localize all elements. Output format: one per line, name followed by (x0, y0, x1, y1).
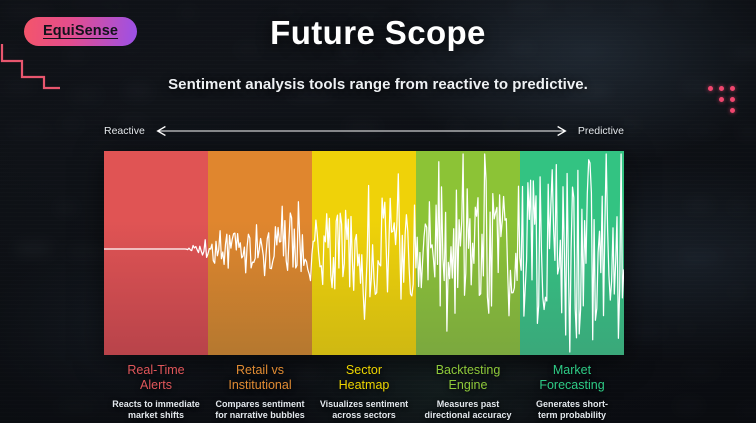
caption-description-retail-vs-institutional: Compares sentiment for narrative bubbles (211, 399, 309, 421)
caption-market-forecasting[interactable]: Market ForecastingGenerates short- term … (520, 363, 624, 421)
caption-title-market-forecasting: Market Forecasting (523, 363, 621, 393)
page-title: Future Scope (0, 14, 756, 52)
caption-title-real-time-alerts: Real-Time Alerts (107, 363, 205, 393)
caption-description-sector-heatmap: Visualizes sentiment across sectors (315, 399, 413, 421)
band-captions: Real-Time AlertsReacts to immediate mark… (104, 363, 624, 421)
page-subtitle: Sentiment analysis tools range from reac… (0, 76, 756, 93)
caption-title-sector-heatmap: Sector Heatmap (315, 363, 413, 393)
sentiment-spectrum (104, 151, 624, 355)
double-arrow-icon (154, 125, 569, 137)
axis-label-reactive: Reactive (104, 125, 145, 137)
spectrum-axis: Reactive Predictive (104, 122, 624, 140)
spectrum-band-retail-vs-institutional[interactable] (208, 151, 312, 355)
caption-backtesting-engine[interactable]: Backtesting EngineMeasures past directio… (416, 363, 520, 421)
caption-description-market-forecasting: Generates short- term probability (523, 399, 621, 421)
axis-label-predictive: Predictive (578, 125, 624, 137)
spectrum-band-market-forecasting[interactable] (520, 151, 624, 355)
spectrum-band-sector-heatmap[interactable] (312, 151, 416, 355)
spectrum-band-real-time-alerts[interactable] (104, 151, 208, 355)
caption-description-backtesting-engine: Measures past directional accuracy (419, 399, 517, 421)
caption-sector-heatmap[interactable]: Sector HeatmapVisualizes sentiment acros… (312, 363, 416, 421)
caption-title-retail-vs-institutional: Retail vs Institutional (211, 363, 309, 393)
caption-description-real-time-alerts: Reacts to immediate market shifts (107, 399, 205, 421)
caption-real-time-alerts[interactable]: Real-Time AlertsReacts to immediate mark… (104, 363, 208, 421)
caption-title-backtesting-engine: Backtesting Engine (419, 363, 517, 393)
caption-retail-vs-institutional[interactable]: Retail vs InstitutionalCompares sentimen… (208, 363, 312, 421)
spectrum-band-backtesting-engine[interactable] (416, 151, 520, 355)
